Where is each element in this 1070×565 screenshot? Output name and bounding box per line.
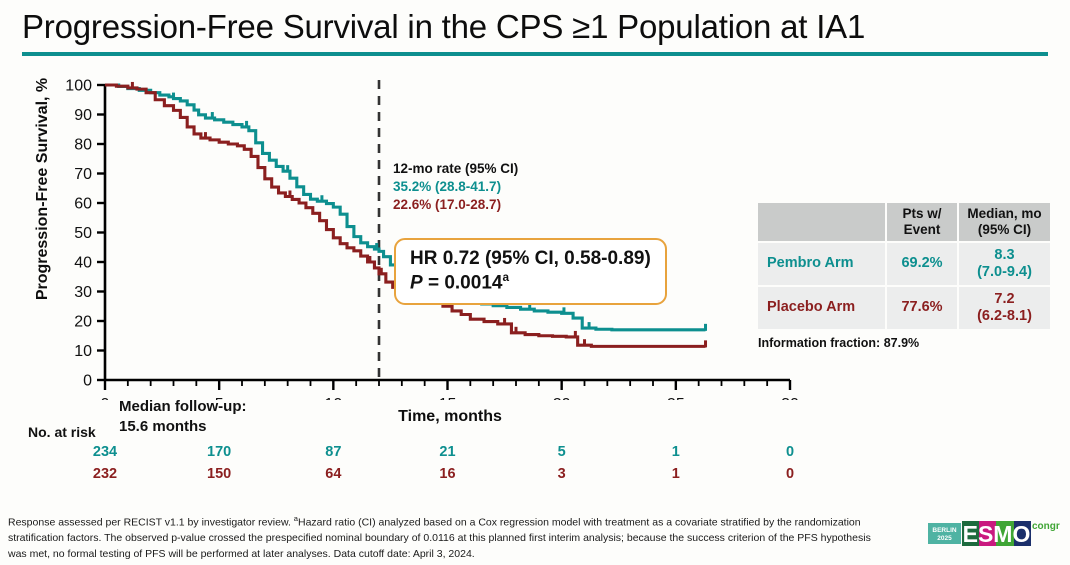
x-axis-label: Time, months [330, 408, 570, 426]
svg-text:10: 10 [324, 396, 342, 400]
summary-table-header-row: Pts w/ Event Median, mo (95% CI) [758, 203, 1050, 242]
svg-text:50: 50 [74, 225, 92, 242]
twelve-month-rate-annotation: 12-mo rate (95% CI) 35.2% (28.8-41.7) 22… [393, 160, 518, 213]
svg-text:30: 30 [781, 396, 799, 400]
logo-brand-text: ESMO [963, 521, 1031, 547]
svg-text:20: 20 [553, 396, 571, 400]
no-at-risk-placebo-t10: 64 [325, 466, 341, 482]
no-at-risk-pembro-t25: 1 [672, 444, 680, 460]
row-placebo-median-ci: (6.2-8.1) [959, 308, 1050, 325]
svg-text:20: 20 [74, 314, 92, 331]
median-line2: (95% CI) [959, 222, 1050, 238]
page-title: Progression-Free Survival in the CPS ≥1 … [22, 8, 1048, 47]
p-value-number: = 0.0014 [423, 272, 503, 293]
footnote-part1: Response assessed per RECIST v1.1 by inv… [8, 517, 294, 529]
no-at-risk-placebo-t0: 232 [93, 466, 117, 482]
rate-placebo: 22.6% (17.0-28.7) [393, 196, 518, 214]
no-at-risk-grid: 2341708721510 2321506416310 [0, 444, 820, 488]
svg-text:90: 90 [74, 107, 92, 124]
svg-text:15: 15 [439, 396, 457, 400]
no-at-risk-placebo-t5: 150 [207, 466, 231, 482]
no-at-risk-placebo-t30: 0 [786, 466, 794, 482]
logo-suffix-text: congress [1032, 521, 1060, 532]
median-followup-line2: 15.6 months [119, 417, 246, 437]
table-row: Placebo Arm 77.6% 7.2 (6.2-8.1) [758, 286, 1050, 329]
p-value-text: P = 0.0014a [410, 271, 651, 295]
km-curve-svg: 0102030405060708090100051015202530 [0, 70, 820, 400]
no-at-risk-pembro-t20: 5 [558, 444, 566, 460]
no-at-risk-row-pembro: 2341708721510 [0, 444, 820, 466]
km-plot-area: Progression-Free Survival, % Time, month… [0, 70, 820, 400]
pts-w-line2: Event [887, 222, 957, 238]
esmo-congress-logo: BERLIN 2025 ESMO congress [928, 517, 1060, 551]
row-placebo-median: 7.2 (6.2-8.1) [958, 286, 1050, 329]
no-at-risk-pembro-t10: 87 [325, 444, 341, 460]
no-at-risk-pembro-t5: 170 [207, 444, 231, 460]
svg-text:30: 30 [74, 284, 92, 301]
slide-root: Progression-Free Survival in the CPS ≥1 … [0, 0, 1070, 565]
logo-city-text: BERLIN [932, 527, 957, 534]
summary-header-arm [758, 203, 886, 242]
rate-header: 12-mo rate (95% CI) [393, 160, 518, 178]
svg-text:80: 80 [74, 137, 92, 154]
row-pembro-arm-label: Pembro Arm [758, 242, 886, 286]
no-at-risk-placebo-t15: 16 [439, 466, 455, 482]
row-pembro-median: 8.3 (7.0-9.4) [958, 242, 1050, 286]
no-at-risk-placebo-t20: 3 [558, 466, 566, 482]
svg-text:10: 10 [74, 343, 92, 360]
p-value-footnote-marker: a [502, 271, 509, 284]
esmo-logo-svg: BERLIN 2025 ESMO congress [928, 517, 1060, 551]
svg-text:40: 40 [74, 255, 92, 272]
summary-header-median: Median, mo (95% CI) [958, 203, 1050, 242]
title-underline-rule [22, 52, 1048, 56]
no-at-risk-pembro-t15: 21 [439, 444, 455, 460]
hazard-ratio-box: HR 0.72 (95% CI, 0.58-0.89) P = 0.0014a [394, 238, 667, 305]
no-at-risk-title: No. at risk [28, 424, 96, 440]
row-pembro-pts-with-event: 69.2% [886, 242, 958, 286]
p-italic: P [410, 272, 423, 293]
svg-text:25: 25 [667, 396, 685, 400]
logo-year-text: 2025 [937, 535, 952, 542]
pts-w-line1: Pts w/ [887, 206, 957, 222]
table-row: Pembro Arm 69.2% 8.3 (7.0-9.4) [758, 242, 1050, 286]
no-at-risk-pembro-t0: 234 [93, 444, 117, 460]
row-pembro-median-value: 8.3 [959, 247, 1050, 264]
row-placebo-arm-label: Placebo Arm [758, 286, 886, 329]
svg-text:60: 60 [74, 196, 92, 213]
median-line1: Median, mo [959, 206, 1050, 222]
median-followup-annotation: Median follow-up: 15.6 months [119, 397, 246, 438]
svg-text:0: 0 [101, 396, 110, 400]
no-at-risk-pembro-t30: 0 [786, 444, 794, 460]
svg-text:100: 100 [65, 78, 92, 95]
footnote: Response assessed per RECIST v1.1 by inv… [8, 513, 888, 563]
hazard-ratio-text: HR 0.72 (95% CI, 0.58-0.89) [410, 247, 651, 271]
rate-pembro: 35.2% (28.8-41.7) [393, 178, 518, 196]
no-at-risk-row-placebo: 2321506416310 [0, 466, 820, 488]
information-fraction-text: Information fraction: 87.9% [758, 336, 1050, 350]
title-block: Progression-Free Survival in the CPS ≥1 … [22, 8, 1048, 56]
summary-header-pts-with-event: Pts w/ Event [886, 203, 958, 242]
median-followup-line1: Median follow-up: [119, 397, 246, 417]
row-placebo-pts-with-event: 77.6% [886, 286, 958, 329]
no-at-risk-placebo-t25: 1 [672, 466, 680, 482]
svg-text:70: 70 [74, 166, 92, 183]
row-placebo-median-value: 7.2 [959, 291, 1050, 308]
summary-table: Pts w/ Event Median, mo (95% CI) Pembro … [758, 203, 1050, 329]
row-pembro-median-ci: (7.0-9.4) [959, 264, 1050, 281]
svg-text:0: 0 [83, 373, 92, 390]
summary-table-block: Pts w/ Event Median, mo (95% CI) Pembro … [758, 203, 1050, 350]
